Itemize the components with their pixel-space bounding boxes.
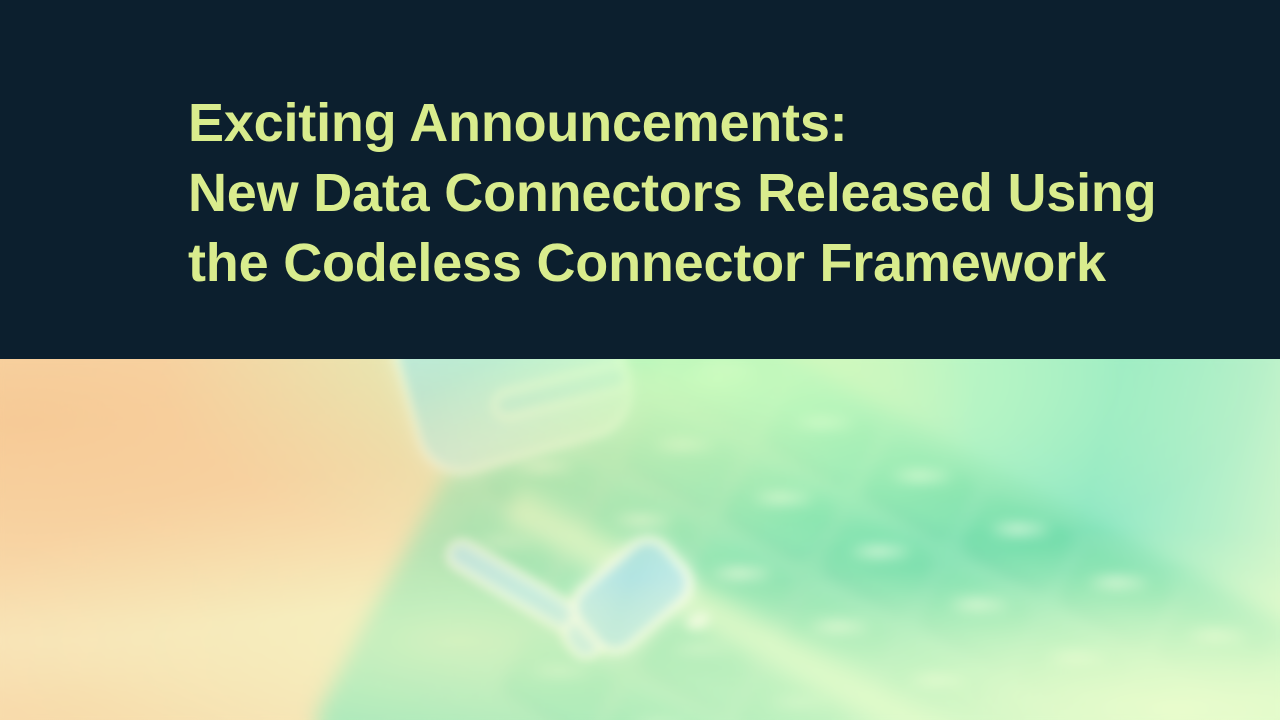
photo-canvas	[0, 359, 1280, 720]
title-line-1: Exciting Announcements:	[188, 88, 1188, 158]
slide-title: Exciting Announcements: New Data Connect…	[188, 88, 1188, 298]
hero-photo	[0, 359, 1280, 720]
presentation-slide: Exciting Announcements: New Data Connect…	[0, 0, 1280, 720]
title-line-2: New Data Connectors Released Using	[188, 158, 1188, 228]
title-line-3: the Codeless Connector Framework	[188, 228, 1188, 298]
header-band: Exciting Announcements: New Data Connect…	[0, 0, 1280, 359]
photo-green-glow	[0, 359, 1280, 720]
